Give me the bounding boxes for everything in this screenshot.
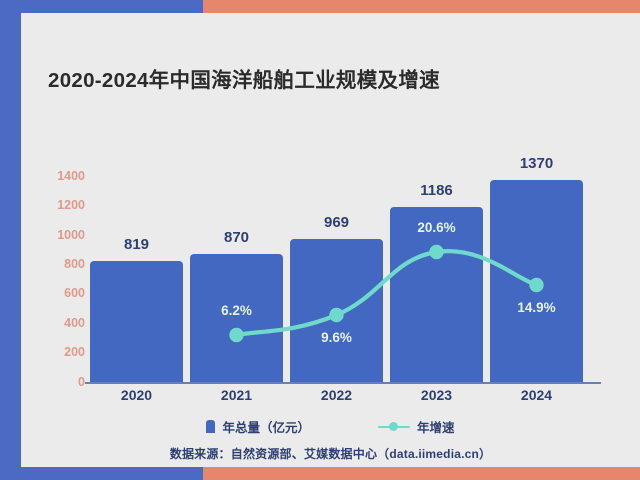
data-source-note: 数据来源：自然资源部、艾媒数据中心（data.iimedia.cn） — [21, 445, 640, 462]
growth-label-2022: 9.6% — [321, 330, 352, 345]
line-swatch-icon — [378, 422, 410, 432]
bar-2022[interactable] — [290, 239, 383, 381]
x-axis-label-2022: 2022 — [321, 387, 352, 403]
bar-value-2020: 819 — [124, 236, 149, 253]
y-axis-tick-1400: 1400 — [41, 169, 85, 183]
y-axis-tick-400: 400 — [41, 316, 85, 330]
chart-page: 2020-2024年中国海洋船舶工业规模及增速 1400120010008006… — [0, 0, 640, 480]
bar-2020[interactable] — [90, 261, 183, 381]
y-axis-tick-600: 600 — [41, 286, 85, 300]
x-axis-label-2024: 2024 — [521, 387, 552, 403]
y-axis-ticks: 1400120010008006004002000 — [33, 13, 85, 467]
bar-value-2023: 1186 — [420, 182, 453, 199]
y-axis-tick-0: 0 — [41, 375, 85, 389]
legend-item-growth[interactable]: 年增速 — [378, 417, 455, 436]
x-axis-label-2023: 2023 — [421, 387, 452, 403]
bar-2024[interactable] — [490, 180, 583, 381]
y-axis-tick-1000: 1000 — [41, 228, 85, 242]
legend-item-total[interactable]: 年总量（亿元） — [206, 417, 310, 436]
x-axis-line — [85, 382, 601, 384]
y-axis-tick-800: 800 — [41, 257, 85, 271]
bar-value-2021: 870 — [224, 229, 249, 246]
y-axis-tick-1200: 1200 — [41, 198, 85, 212]
legend-label-growth: 年增速 — [417, 417, 455, 436]
x-axis-label-2021: 2021 — [221, 387, 252, 403]
bar-swatch-icon — [206, 420, 215, 433]
bar-value-2022: 969 — [324, 214, 349, 231]
bar-value-2024: 1370 — [520, 155, 553, 172]
x-axis-label-2020: 2020 — [121, 387, 152, 403]
growth-label-2021: 6.2% — [221, 303, 252, 318]
y-axis-tick-200: 200 — [41, 345, 85, 359]
legend-label-total: 年总量（亿元） — [222, 417, 310, 436]
chart-legend: 年总量（亿元） 年增速 — [21, 417, 640, 436]
chart-card: 2020-2024年中国海洋船舶工业规模及增速 1400120010008006… — [21, 13, 640, 467]
growth-label-2023: 20.6% — [417, 220, 455, 235]
growth-label-2024: 14.9% — [517, 300, 555, 315]
plot-area: 1400120010008006004002000 81987096911861… — [21, 13, 640, 467]
